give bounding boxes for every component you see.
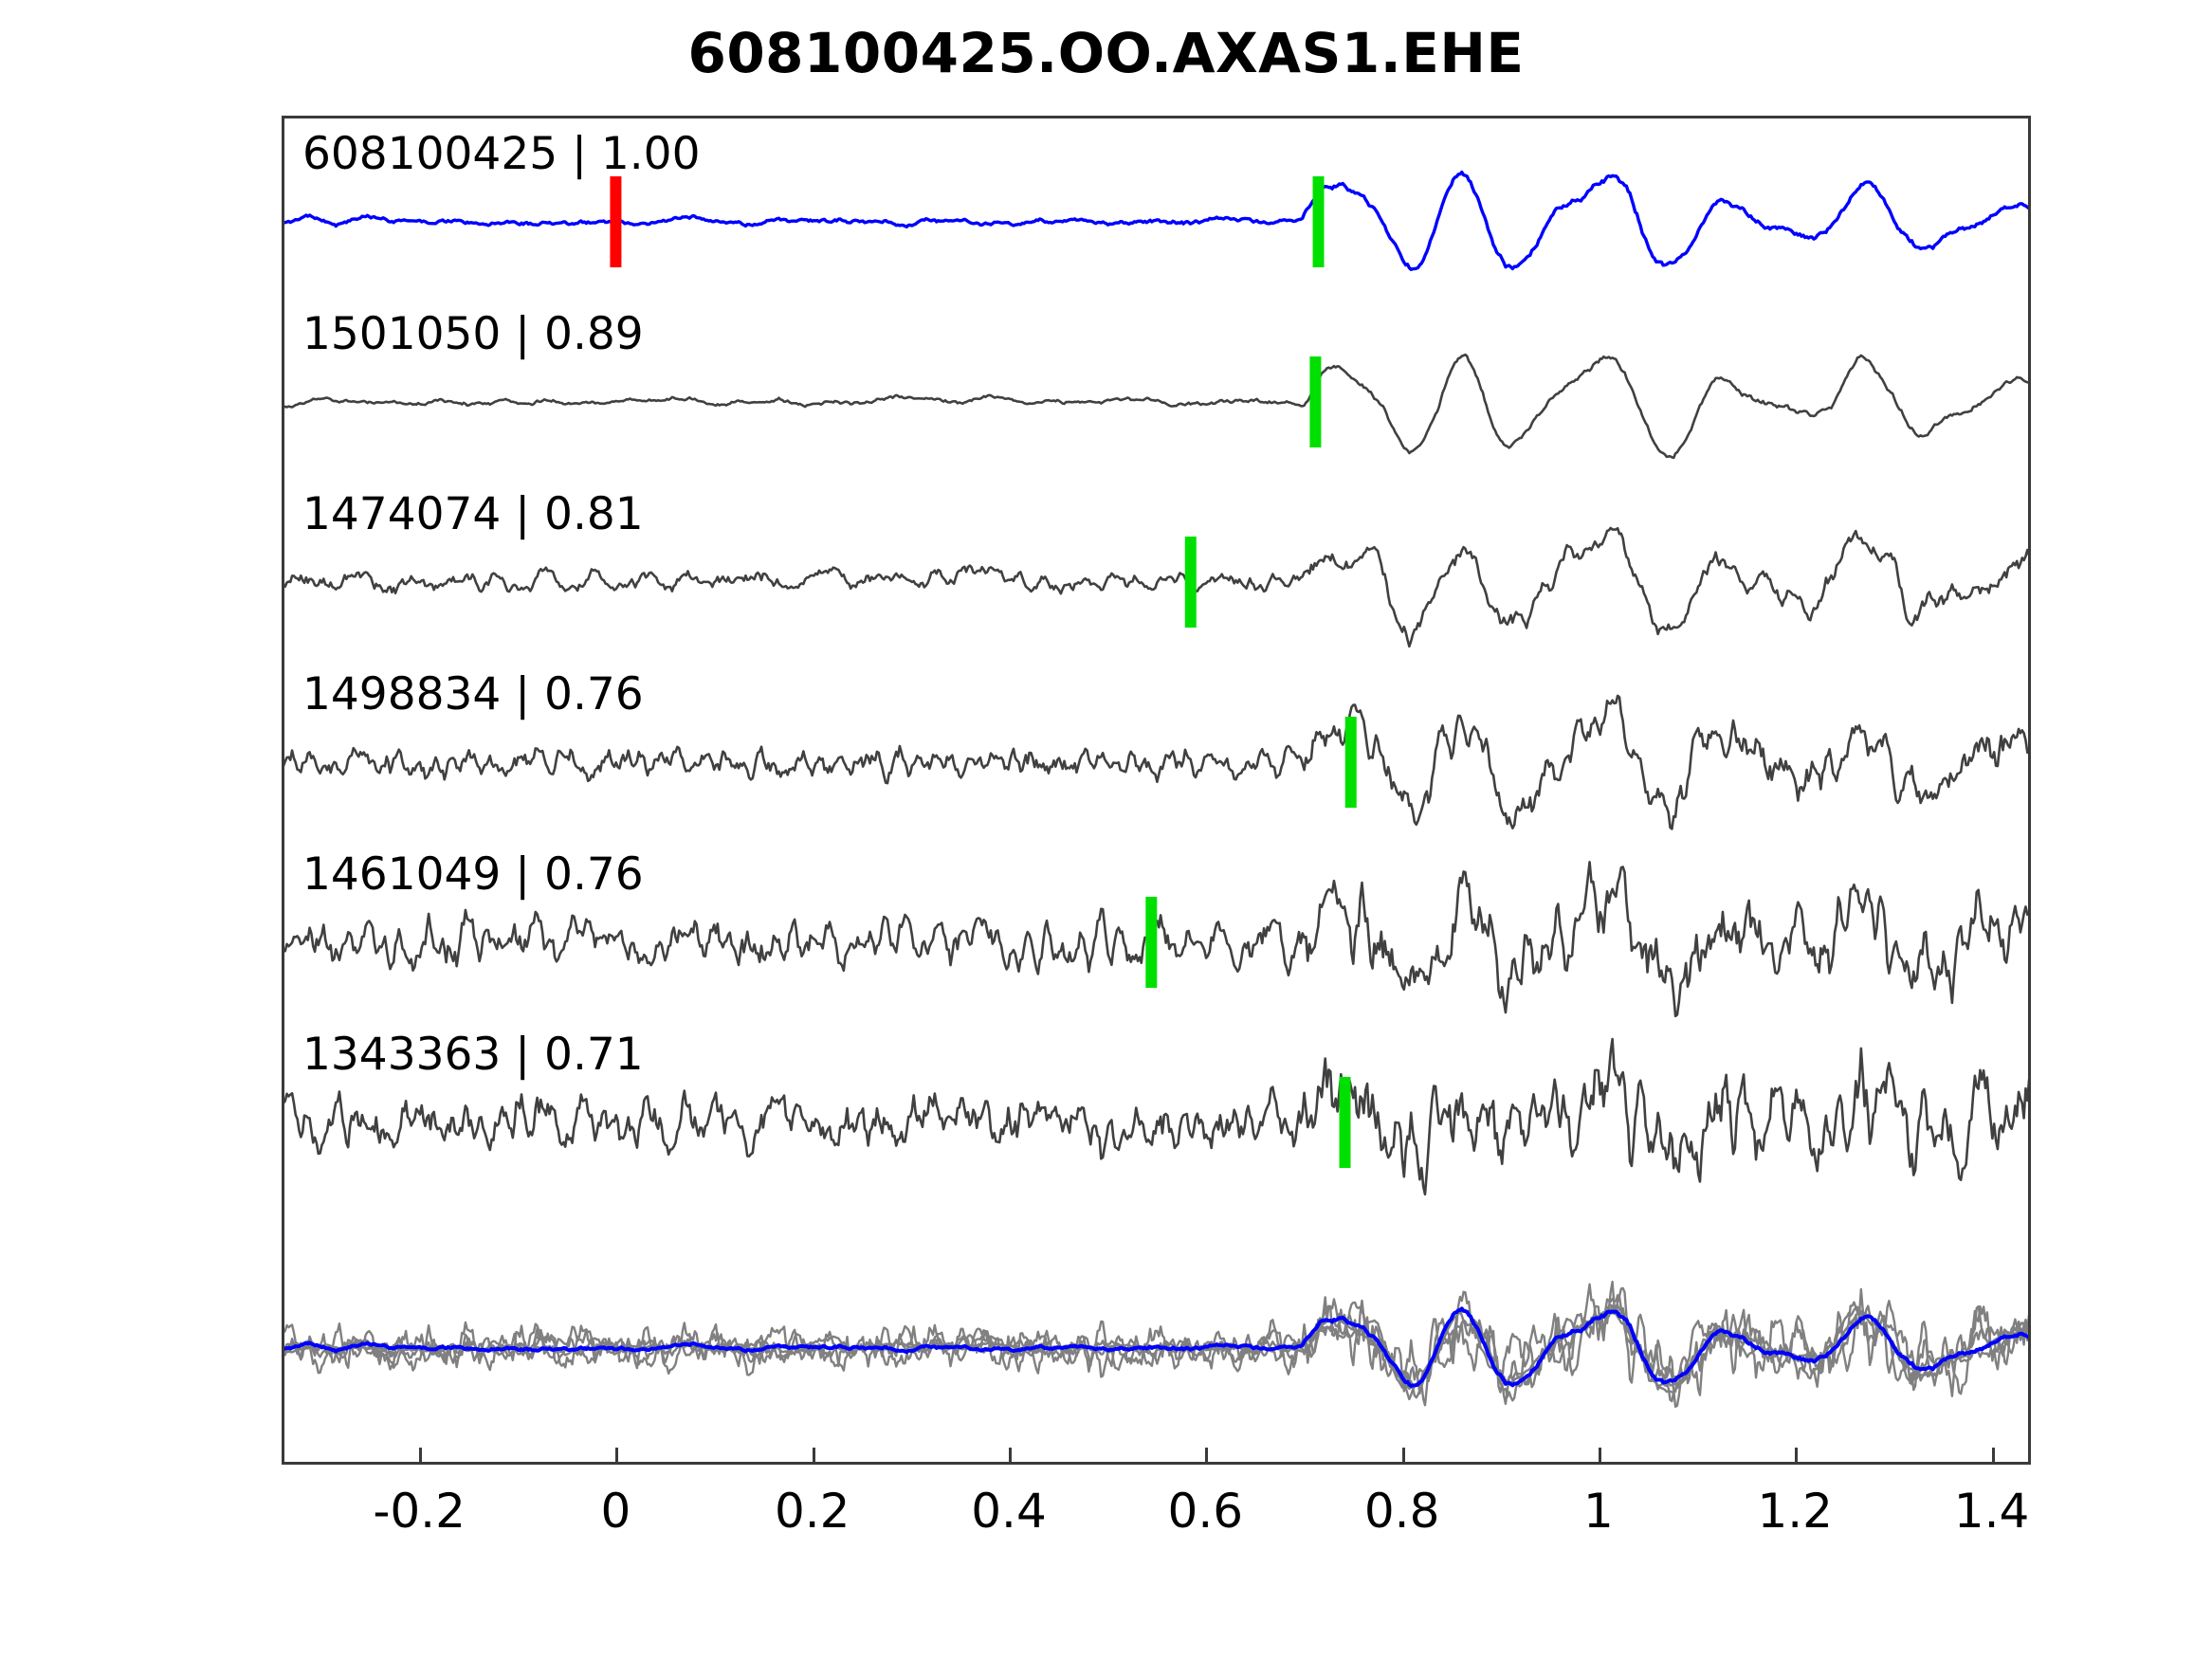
pick-markers-group — [615, 176, 1350, 1168]
waveform-trace — [282, 355, 2031, 458]
trace-label: 1461049 | 0.76 — [302, 852, 644, 897]
waveform-figure: 608100425.OO.AXAS1.EHE 608100425 | 1.001… — [0, 0, 2212, 1659]
x-tick-mark — [1402, 1448, 1405, 1465]
trace-label: 1474074 | 0.81 — [302, 492, 644, 537]
page-title: 608100425.OO.AXAS1.EHE — [0, 21, 2212, 85]
trace-label: 1498834 | 0.76 — [302, 672, 644, 717]
x-tick-label: 1.2 — [1757, 1484, 1833, 1539]
overlay-stack-group — [282, 1282, 2031, 1407]
trace-label: 608100425 | 1.00 — [302, 132, 701, 176]
x-axis-ticks: -0.200.20.40.60.811.21.4 — [282, 1465, 2031, 1569]
x-tick-mark — [419, 1448, 422, 1465]
x-tick-mark — [1205, 1448, 1208, 1465]
waveform-trace — [282, 173, 2031, 270]
x-tick-mark — [1795, 1448, 1798, 1465]
waveform-trace — [282, 528, 2031, 647]
x-tick-label: 0.6 — [1168, 1484, 1244, 1539]
x-tick-label: 1.4 — [1954, 1484, 2030, 1539]
x-tick-mark — [615, 1448, 618, 1465]
x-tick-mark — [1599, 1448, 1601, 1465]
x-tick-mark — [1992, 1448, 1995, 1465]
x-tick-label: 0.4 — [971, 1484, 1047, 1539]
x-tick-label: 0.8 — [1364, 1484, 1440, 1539]
x-tick-label: 0.2 — [775, 1484, 850, 1539]
x-tick-label: -0.2 — [373, 1484, 466, 1539]
x-tick-mark — [1009, 1448, 1012, 1465]
x-tick-label: 1 — [1583, 1484, 1614, 1539]
plot-area: 608100425 | 1.001501050 | 0.891474074 | … — [282, 116, 2031, 1465]
x-tick-mark — [813, 1448, 815, 1465]
trace-label: 1501050 | 0.89 — [302, 312, 644, 356]
trace-label: 1343363 | 0.71 — [302, 1032, 644, 1077]
x-tick-label: 0 — [601, 1484, 631, 1539]
